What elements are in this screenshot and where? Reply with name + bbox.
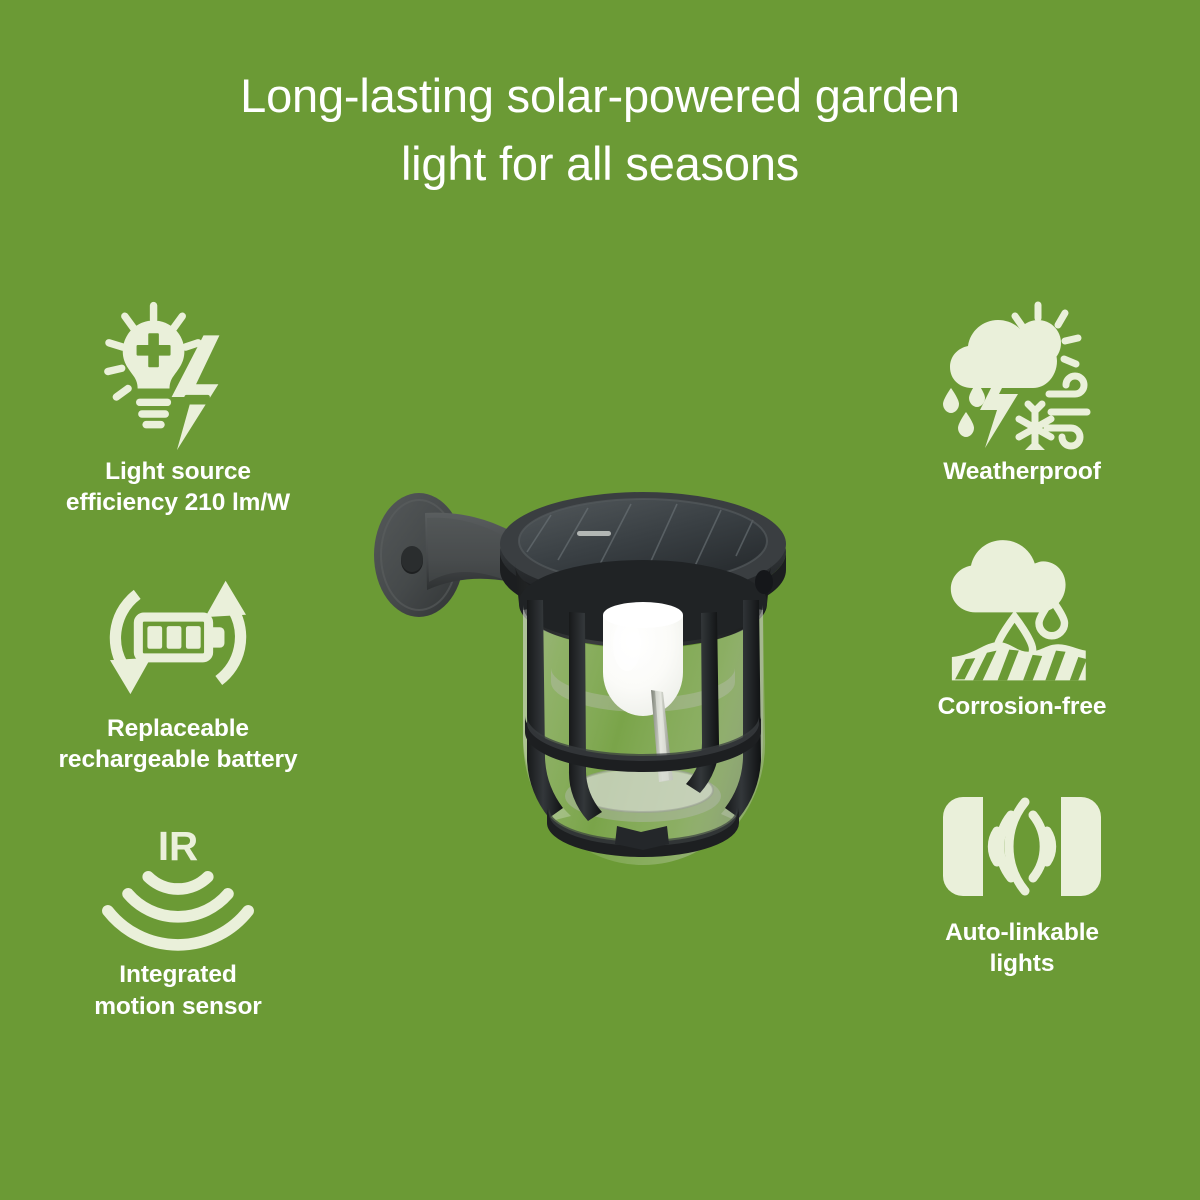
ir-label: IR — [158, 828, 198, 869]
headline-line-1: Long-lasting solar-powered garden — [110, 62, 1090, 130]
feature-label: Integrated motion sensor — [94, 959, 262, 1022]
feature-column-left: Light source efficiency 210 lm/W — [28, 300, 328, 1074]
ir-motion-sensor-icon: IR — [93, 825, 263, 953]
infographic-canvas: Long-lasting solar-powered garden light … — [0, 0, 1200, 1200]
weather-cloud-sun-lightning-snow-wind-icon — [937, 300, 1107, 450]
feature-label: Replaceable rechargeable battery — [58, 713, 297, 776]
feature-auto-linkable: Auto-linkable lights — [872, 783, 1172, 980]
light-bulb — [603, 602, 683, 716]
feature-label: Auto-linkable lights — [945, 917, 1099, 980]
feature-label: Corrosion-free — [938, 691, 1107, 722]
feature-label: Light source efficiency 210 lm/W — [66, 456, 290, 519]
headline-line-2: light for all seasons — [110, 130, 1090, 198]
page-title: Long-lasting solar-powered garden light … — [0, 62, 1200, 198]
feature-motion-sensor: IR Integrated motion sensor — [28, 825, 328, 1022]
feature-replaceable-battery: Replaceable rechargeable battery — [28, 567, 328, 776]
rechargeable-battery-icon — [93, 567, 263, 707]
feature-label: Weatherproof — [943, 456, 1101, 487]
feature-corrosion-free: Corrosion-free — [872, 545, 1172, 722]
product-image-solar-wall-lantern — [355, 440, 855, 920]
feature-column-right: Weatherproof — [872, 300, 1172, 1031]
feature-light-source-efficiency: Light source efficiency 210 lm/W — [28, 300, 328, 519]
feature-weatherproof: Weatherproof — [872, 300, 1172, 487]
bulb-plus-lightning-icon — [93, 300, 263, 450]
auto-linkable-signal-icon — [937, 783, 1107, 911]
cloud-rain-corrosion-icon — [937, 545, 1107, 685]
